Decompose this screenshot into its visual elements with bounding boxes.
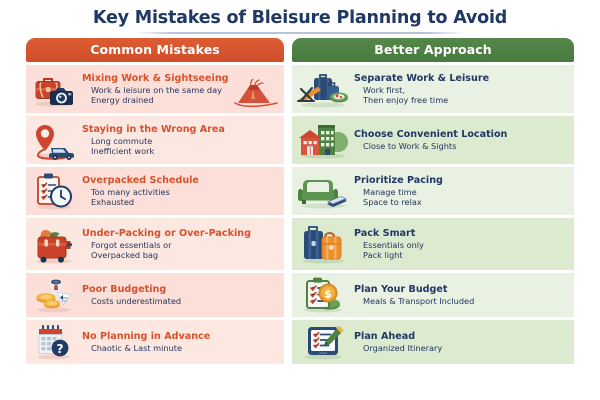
row-text: Staying in the Wrong Area Long commute I… [82, 124, 284, 157]
row-line: Essentials only [354, 240, 570, 251]
sofa-book-icon [292, 171, 354, 211]
row-line: Then enjoy free time [354, 95, 570, 106]
calendar-question-icon: ? [26, 323, 82, 361]
row-title: Plan Ahead [354, 331, 570, 343]
column-header-better-approach: Better Approach [292, 38, 574, 62]
title-section: Key Mistakes of Bleisure Planning to Avo… [0, 0, 600, 34]
row-text: Plan Ahead Organized Itinerary [354, 331, 574, 354]
row-line: Work & leisure on the same day [82, 85, 280, 96]
beach-chair-luggage-icon [292, 69, 354, 109]
map-pin-car-icon [26, 120, 82, 160]
table-row[interactable]: Overpacked Schedule Too many activities … [26, 167, 284, 215]
row-text: Plan Your Budget Meals & Transport Inclu… [354, 284, 574, 307]
table-row[interactable]: Separate Work & Leisure Work first, Then… [292, 65, 574, 113]
table-row[interactable]: Poor Budgeting Costs underestimated [26, 273, 284, 317]
row-line: Overpacked bag [82, 250, 280, 261]
clipboard-clock-icon [26, 171, 82, 211]
row-title: Mixing Work & Sightseeing [82, 73, 280, 85]
row-line: Space to relax [354, 197, 570, 208]
row-text: Pack Smart Essentials only Pack light [354, 228, 574, 261]
row-line: Too many activities [82, 187, 280, 198]
tablet-checklist-pen-icon [292, 322, 354, 362]
row-line: Close to Work & Sights [354, 141, 570, 152]
row-text: Separate Work & Leisure Work first, Then… [354, 73, 574, 106]
table-row[interactable]: Prioritize Pacing Manage time Space to r… [292, 167, 574, 215]
buildings-icon [292, 120, 354, 160]
row-line: Energy drained [82, 95, 280, 106]
page-title: Key Mistakes of Bleisure Planning to Avo… [0, 7, 600, 29]
row-line: Pack light [354, 250, 570, 261]
row-text: Overpacked Schedule Too many activities … [82, 175, 284, 208]
row-line: Forgot essentials or [82, 240, 280, 251]
column-header-common-mistakes: Common Mistakes [26, 38, 284, 62]
overstuffed-suitcase-icon [26, 223, 82, 265]
row-line: Long commute [82, 136, 280, 147]
row-title: Poor Budgeting [82, 284, 280, 296]
comparison-columns: Common Mistakes [0, 38, 600, 364]
row-title: Prioritize Pacing [354, 175, 570, 187]
row-title: Pack Smart [354, 228, 570, 240]
row-line: Costs underestimated [82, 296, 280, 307]
svg-text:?: ? [56, 341, 63, 356]
row-title: No Planning in Advance [82, 331, 280, 343]
row-text: Choose Convenient Location Close to Work… [354, 129, 574, 152]
row-text: Poor Budgeting Costs underestimated [82, 284, 284, 307]
infographic-page: Key Mistakes of Bleisure Planning to Avo… [0, 0, 600, 400]
table-row[interactable]: Mixing Work & Sightseeing Work & leisure… [26, 65, 284, 113]
row-text: Under-Packing or Over-Packing Forgot ess… [82, 228, 284, 261]
row-line: Organized Itinerary [354, 343, 570, 354]
row-title: Choose Convenient Location [354, 129, 570, 141]
table-row[interactable]: $ Plan Your Budget Meals & Transport Inc… [292, 273, 574, 317]
table-row[interactable]: Pack Smart Essentials only Pack light [292, 218, 574, 270]
row-line: Manage time [354, 187, 570, 198]
row-line: Meals & Transport Included [354, 296, 570, 307]
table-row[interactable]: Staying in the Wrong Area Long commute I… [26, 116, 284, 164]
row-title: Separate Work & Leisure [354, 73, 570, 85]
table-row[interactable]: Plan Ahead Organized Itinerary [292, 320, 574, 364]
suitcases-icon [292, 223, 354, 265]
column-better-approach: Better Approach [292, 38, 574, 364]
table-row[interactable]: Choose Convenient Location Close to Work… [292, 116, 574, 164]
row-text: Mixing Work & Sightseeing Work & leisure… [82, 73, 284, 106]
row-title: Plan Your Budget [354, 284, 570, 296]
row-title: Staying in the Wrong Area [82, 124, 280, 136]
table-row[interactable]: ? No Planning in Advance Chaotic & Last … [26, 320, 284, 364]
title-divider [134, 32, 466, 34]
approach-row-list: Separate Work & Leisure Work first, Then… [292, 65, 574, 364]
row-title: Overpacked Schedule [82, 175, 280, 187]
row-line: Exhausted [82, 197, 280, 208]
mistakes-row-list: Mixing Work & Sightseeing Work & leisure… [26, 65, 284, 364]
briefcase-camera-icon [26, 70, 82, 108]
svg-text:$: $ [324, 288, 332, 301]
column-common-mistakes: Common Mistakes [26, 38, 284, 364]
row-text: No Planning in Advance Chaotic & Last mi… [82, 331, 284, 354]
coins-money-icon [26, 276, 82, 314]
row-text: Prioritize Pacing Manage time Space to r… [354, 175, 574, 208]
table-row[interactable]: Under-Packing or Over-Packing Forgot ess… [26, 218, 284, 270]
row-line: Chaotic & Last minute [82, 343, 280, 354]
budget-checklist-coin-icon: $ [292, 275, 354, 315]
row-title: Under-Packing or Over-Packing [82, 228, 280, 240]
row-line: Inefficient work [82, 146, 280, 157]
row-line: Work first, [354, 85, 570, 96]
